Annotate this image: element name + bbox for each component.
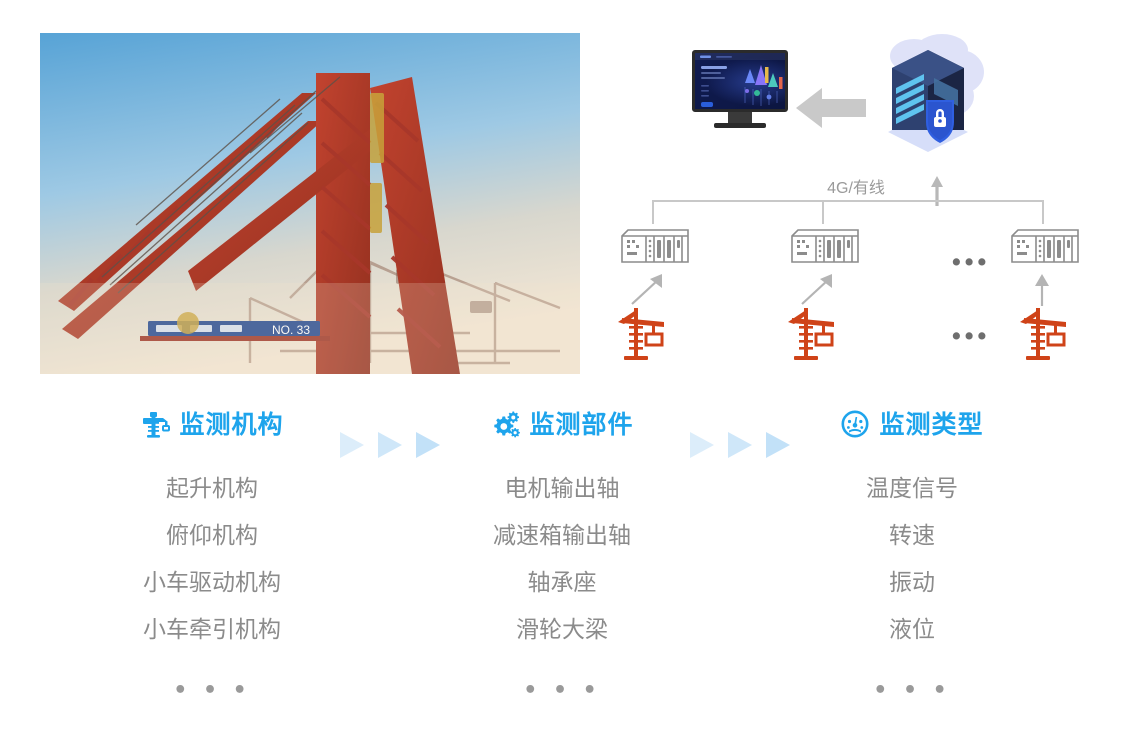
column-2-list: 电机输出轴 减速箱输出轴 轴承座 滑轮大梁 • • • [412, 466, 712, 714]
plc-ellipsis: ••• [952, 250, 990, 275]
uplink-arrow-icon [930, 176, 944, 206]
column-monitoring-type: 监测类型 温度信号 转速 振动 液位 • • • [762, 404, 1062, 714]
list-item: 电机输出轴 [412, 466, 712, 513]
list-item: 小车驱动机构 [62, 560, 362, 607]
column-3-title: 监测类型 [879, 412, 983, 437]
list-item: 温度信号 [762, 466, 1062, 513]
column-2-header: 监测部件 [412, 404, 712, 444]
network-type-label: 4G/有线 [796, 174, 916, 198]
list-item: 起升机构 [62, 466, 362, 513]
column-1-title: 监测机构 [179, 412, 283, 437]
dashboard-monitor [692, 50, 788, 132]
chevron-right-icon [374, 430, 406, 460]
gears-icon [490, 409, 520, 439]
column-1-more: • • • [62, 654, 362, 714]
column-monitoring-component: 监测部件 电机输出轴 减速箱输出轴 轴承座 滑轮大梁 • • • [412, 404, 712, 714]
system-architecture-diagram: 4G/有线 [600, 28, 1100, 376]
list-item: 液位 [762, 607, 1062, 654]
crane-icon-2 [778, 300, 840, 362]
monitor-screen [692, 50, 788, 112]
chevron-right-icon [336, 430, 368, 460]
crane-icon-3 [1010, 300, 1072, 362]
column-monitoring-mechanism: 监测机构 起升机构 俯仰机构 小车驱动机构 小车牵引机构 • • • [62, 404, 362, 714]
column-3-list: 温度信号 转速 振动 液位 • • • [762, 466, 1062, 714]
cloud-server-icon [868, 34, 988, 158]
crane-ellipsis: ••• [952, 324, 990, 349]
tower-crane-icon [140, 409, 170, 439]
bus-drop-3 [1042, 200, 1044, 224]
list-item: 振动 [762, 560, 1062, 607]
infographic-page: NO. 33 [0, 0, 1124, 752]
chevron-right-icon [724, 430, 756, 460]
photo-crane-artwork: NO. 33 [40, 33, 580, 374]
bus-drop-1 [652, 200, 654, 224]
gauge-icon [840, 409, 870, 439]
column-2-title: 监测部件 [529, 412, 633, 437]
plc-cabinet-icon-1 [616, 224, 692, 268]
bus-drop-2 [822, 200, 824, 224]
list-item: 转速 [762, 513, 1062, 560]
plc-cabinet-icon-2 [786, 224, 862, 268]
monitor-base [714, 123, 766, 128]
list-item: 俯仰机构 [62, 513, 362, 560]
category-columns: 监测机构 起升机构 俯仰机构 小车驱动机构 小车牵引机构 • • • [0, 404, 1124, 752]
data-flow-arrow-icon [796, 86, 866, 130]
list-item: 减速箱输出轴 [412, 513, 712, 560]
monitor-chart-graphics [695, 53, 788, 112]
port-crane-photo: NO. 33 [40, 33, 580, 374]
list-item: 滑轮大梁 [412, 607, 712, 654]
column-2-more: • • • [412, 654, 712, 714]
column-3-header: 监测类型 [762, 404, 1062, 444]
plc-cabinet-icon-3 [1006, 224, 1082, 268]
network-bus-line [652, 200, 1042, 202]
list-item: 轴承座 [412, 560, 712, 607]
column-1-header: 监测机构 [62, 404, 362, 444]
column-3-more: • • • [762, 654, 1062, 714]
crane-icon-1 [608, 300, 670, 362]
chevron-right-icon [686, 430, 718, 460]
list-item: 小车牵引机构 [62, 607, 362, 654]
column-1-list: 起升机构 俯仰机构 小车驱动机构 小车牵引机构 • • • [62, 466, 362, 714]
